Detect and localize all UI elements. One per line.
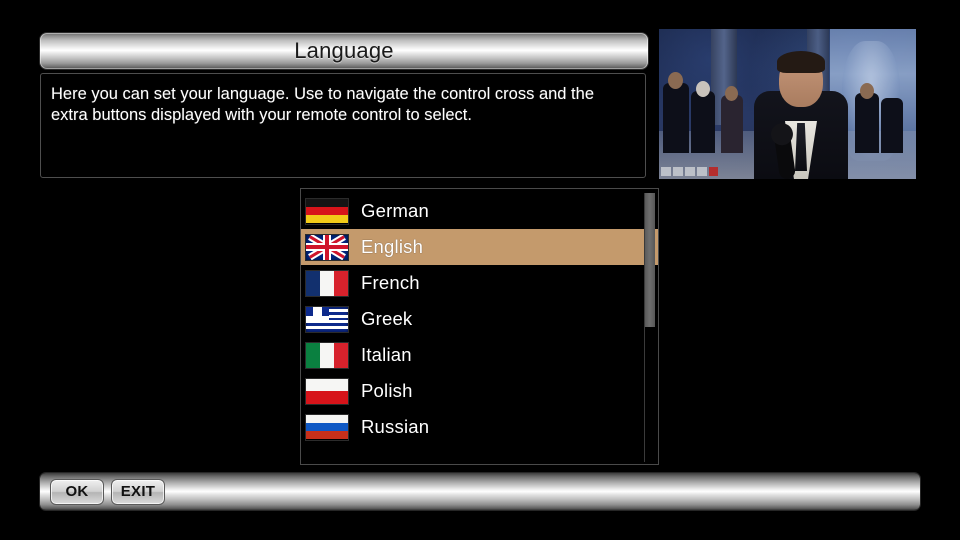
- flag-united-kingdom-icon: [305, 234, 349, 261]
- news-channel-logo: [661, 166, 718, 177]
- flag-russia-icon: [305, 414, 349, 441]
- list-item-label: Russian: [361, 416, 429, 438]
- list-item-label: Italian: [361, 344, 412, 366]
- list-item[interactable]: Greek: [301, 301, 658, 337]
- flag-poland-icon: [305, 378, 349, 405]
- window-title-bar: Language: [40, 33, 648, 69]
- flag-france-icon: [305, 270, 349, 297]
- video-anchor-hair: [777, 51, 825, 73]
- flag-greece-icon: [305, 306, 349, 333]
- live-tv-preview[interactable]: [659, 29, 916, 179]
- info-box: Here you can set your language. Use to n…: [40, 73, 646, 178]
- flag-germany-icon: [305, 198, 349, 225]
- list-item[interactable]: English: [301, 229, 658, 265]
- list-item-label: German: [361, 200, 429, 222]
- footer-button-bar: OK EXIT: [40, 473, 920, 510]
- list-scrollbar-thumb[interactable]: [645, 193, 655, 327]
- list-item-label: French: [361, 272, 420, 294]
- list-item[interactable]: Polish: [301, 373, 658, 409]
- list-item[interactable]: Italian: [301, 337, 658, 373]
- ok-button[interactable]: OK: [50, 479, 104, 505]
- osd-screen: Language Here you can set your language.…: [0, 0, 960, 540]
- language-list[interactable]: GermanEnglishFrenchGreekItalianPolishRus…: [301, 193, 658, 445]
- info-text: Here you can set your language. Use to n…: [51, 84, 633, 126]
- list-item-label: Polish: [361, 380, 413, 402]
- list-scrollbar-track[interactable]: [644, 193, 654, 462]
- exit-button[interactable]: EXIT: [111, 479, 165, 505]
- page-title: Language: [294, 38, 393, 64]
- list-item[interactable]: German: [301, 193, 658, 229]
- list-item-label: English: [361, 236, 423, 258]
- list-item-label: Greek: [361, 308, 412, 330]
- language-list-panel[interactable]: GermanEnglishFrenchGreekItalianPolishRus…: [300, 188, 659, 465]
- list-item[interactable]: French: [301, 265, 658, 301]
- flag-italy-icon: [305, 342, 349, 369]
- list-item[interactable]: Russian: [301, 409, 658, 445]
